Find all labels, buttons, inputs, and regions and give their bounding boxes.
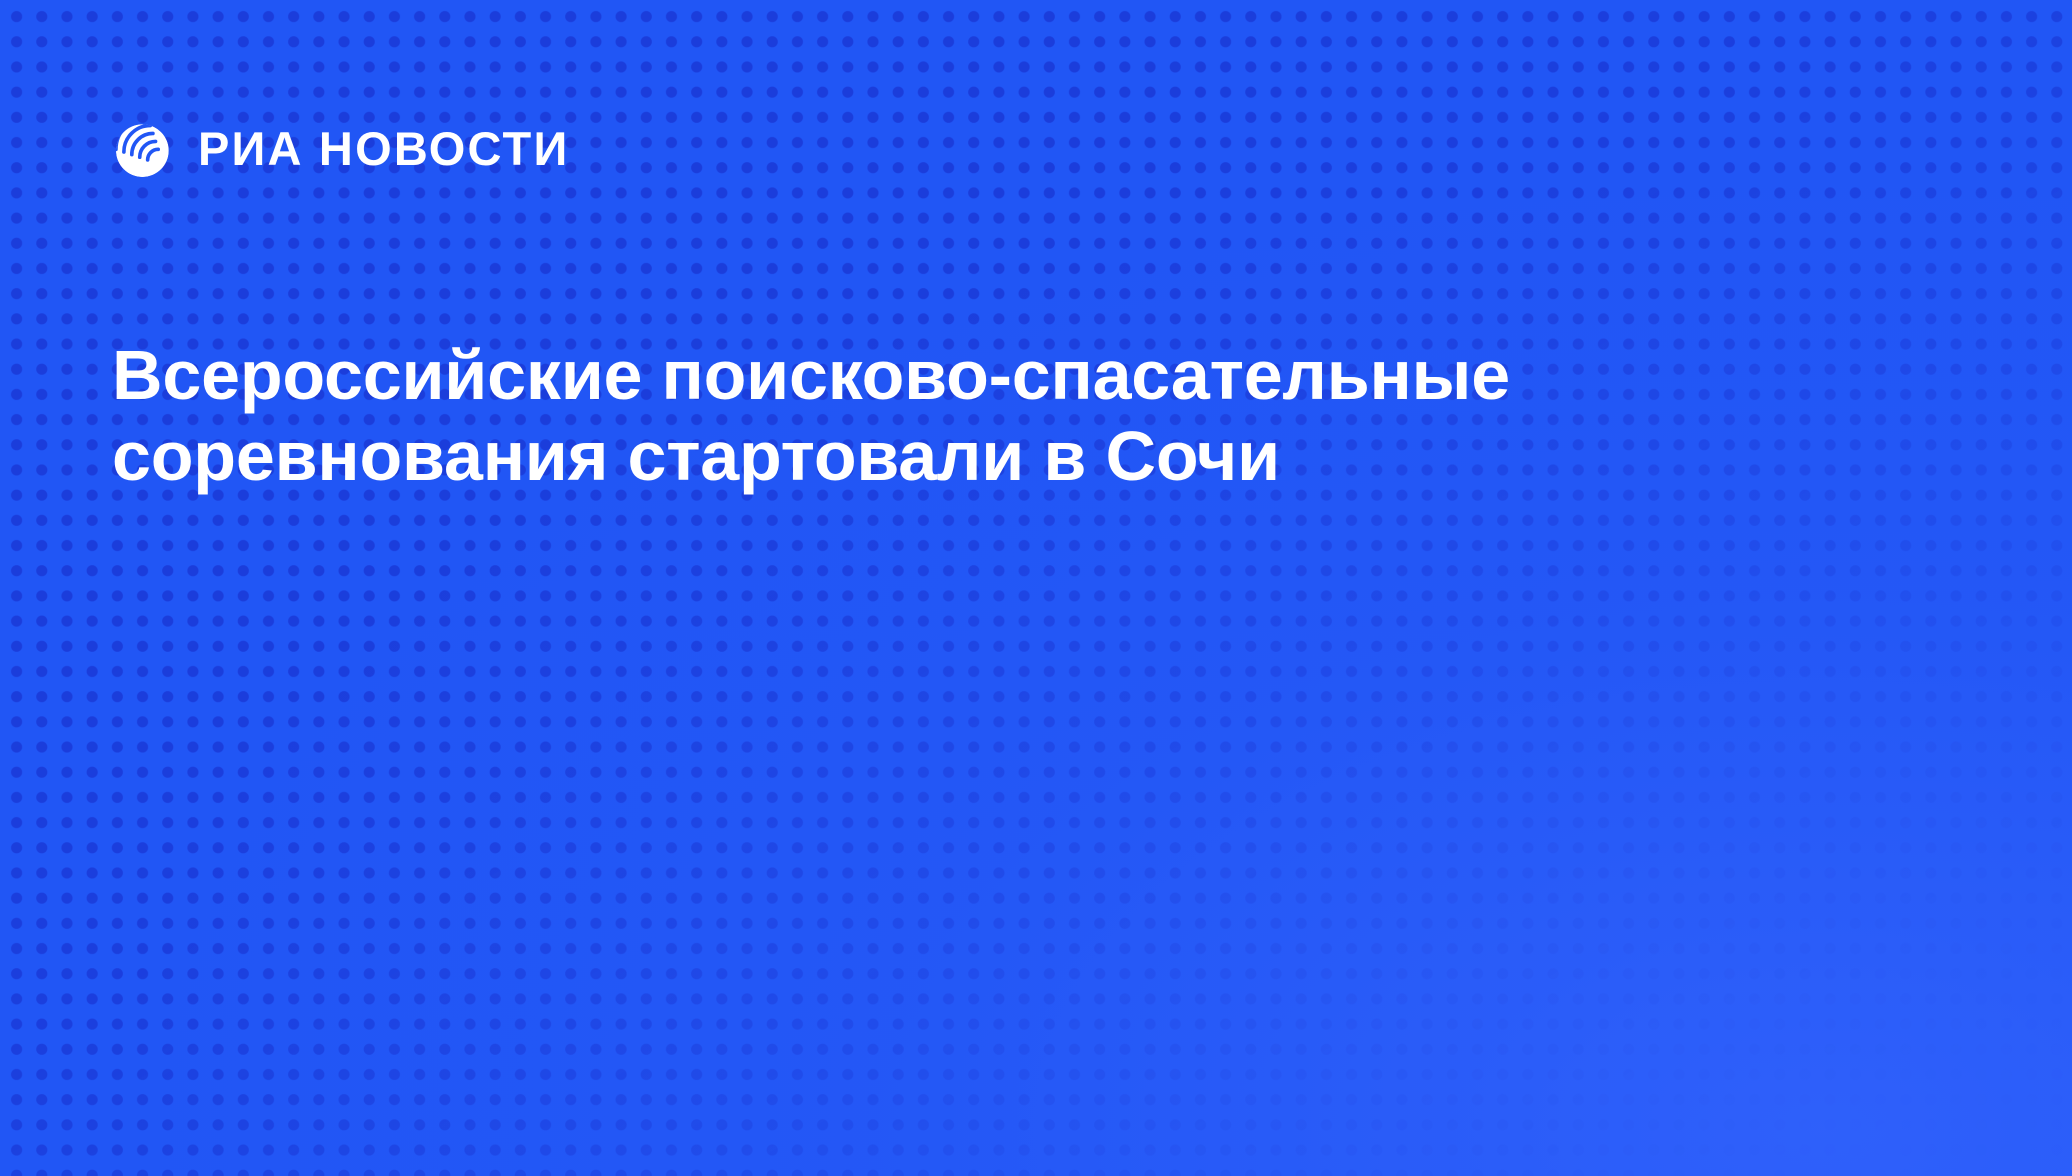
ria-globe-icon — [112, 115, 178, 181]
page-title: Всероссийские поисково-спасательные соре… — [112, 335, 1792, 497]
page-title-line-2: соревнования стартовали в Сочи — [112, 416, 1792, 497]
brand-lockup[interactable]: РИА НОВОСТИ — [112, 112, 569, 184]
card-content: РИА НОВОСТИ Всероссийские поисково-спаса… — [0, 0, 2072, 1176]
ria-novosti-share-card: РИА НОВОСТИ Всероссийские поисково-спаса… — [0, 0, 2072, 1176]
page-title-line-1: Всероссийские поисково-спасательные — [112, 335, 1792, 416]
brand-name: РИА НОВОСТИ — [198, 125, 569, 172]
